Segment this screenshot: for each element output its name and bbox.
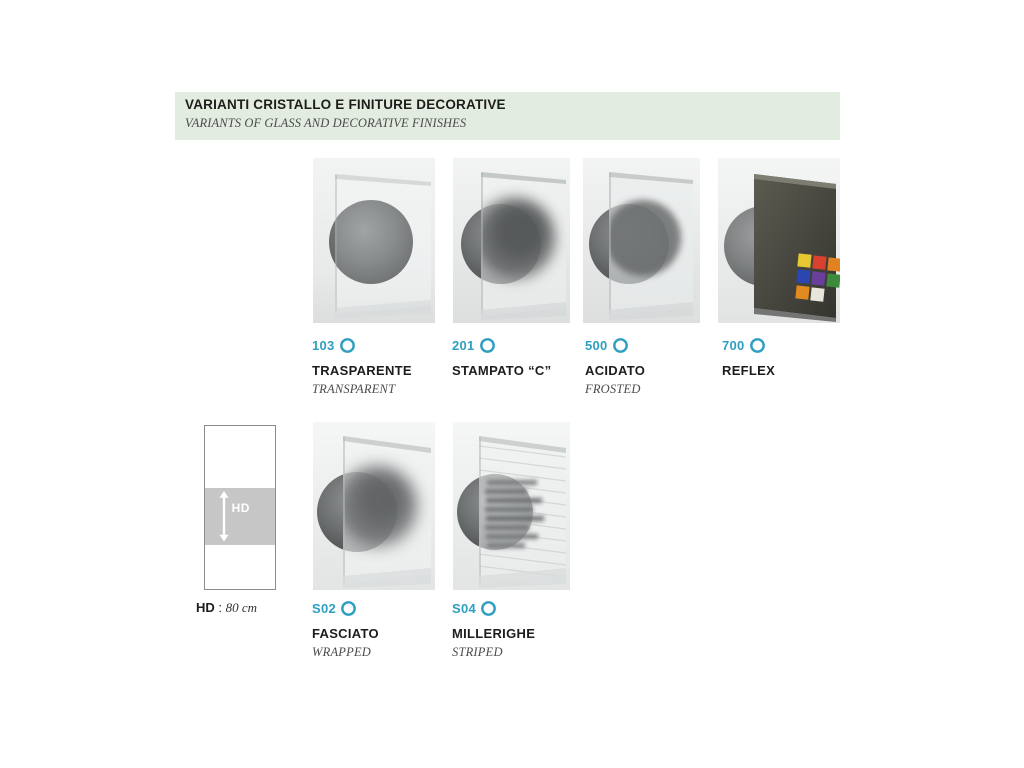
sample-image-millerighe (453, 422, 570, 590)
sample-label-stampato-c: 201 STAMPATO “C” (452, 336, 551, 382)
code-row: 500 (585, 336, 645, 354)
code-row: 201 (452, 336, 551, 354)
fasciato-photo (313, 422, 435, 590)
page-title: VARIANTI CRISTALLO E FINITURE DECORATIVE (185, 97, 506, 112)
sample-image-stampato-c (453, 158, 570, 323)
millerighe-photo (453, 422, 570, 590)
sample-name-it: FASCIATO (312, 626, 379, 641)
hd-caption: HD : 80 cm (196, 600, 257, 616)
sample-name-it: ACIDATO (585, 363, 645, 378)
hd-dimension-arrow (218, 491, 230, 542)
hd-band (205, 488, 275, 545)
code-row: 700 (722, 336, 775, 354)
sample-name-en: WRAPPED (312, 645, 379, 660)
sample-name-it: REFLEX (722, 363, 775, 378)
hd-caption-value: 80 cm (226, 600, 257, 615)
glass-swatch-icon (481, 601, 496, 616)
sample-image-reflex (718, 158, 840, 323)
glass-swatch-icon (750, 338, 765, 353)
section-header-band: VARIANTI CRISTALLO E FINITURE DECORATIVE… (175, 92, 840, 140)
sample-name-it: STAMPATO “C” (452, 363, 551, 378)
code-row: S02 (312, 599, 379, 617)
hd-caption-key: HD (196, 600, 215, 615)
sample-name-it: MILLERIGHE (452, 626, 535, 641)
page-subtitle: VARIANTS OF GLASS AND DECORATIVE FINISHE… (185, 116, 466, 131)
stampato-c-photo (453, 158, 570, 323)
sample-code: S04 (452, 601, 476, 616)
glass-swatch-icon (480, 338, 495, 353)
glass-swatch-icon (341, 601, 356, 616)
sample-label-millerighe: S04 MILLERIGHE STRIPED (452, 599, 535, 660)
sample-name-en: STRIPED (452, 645, 535, 660)
glass-swatch-icon (613, 338, 628, 353)
sample-name-en: FROSTED (585, 382, 645, 397)
hd-band-label: HD (232, 501, 250, 515)
sample-code: S02 (312, 601, 336, 616)
sample-code: 700 (722, 338, 745, 353)
glass-swatch-icon (340, 338, 355, 353)
code-row: S04 (452, 599, 535, 617)
sample-label-acidato: 500 ACIDATO FROSTED (585, 336, 645, 397)
sample-name-en: TRANSPARENT (312, 382, 412, 397)
trasparente-photo (313, 158, 435, 323)
sample-code: 500 (585, 338, 608, 353)
acidato-photo (583, 158, 700, 323)
sample-image-acidato (583, 158, 700, 323)
hd-caption-separator: : (215, 600, 226, 615)
sample-code: 201 (452, 338, 475, 353)
sample-label-fasciato: S02 FASCIATO WRAPPED (312, 599, 379, 660)
sample-name-it: TRASPARENTE (312, 363, 412, 378)
sample-label-trasparente: 103 TRASPARENTE TRANSPARENT (312, 336, 412, 397)
sample-image-fasciato (313, 422, 435, 590)
sample-image-trasparente (313, 158, 435, 323)
sample-code: 103 (312, 338, 335, 353)
reflex-photo (718, 158, 840, 323)
code-row: 103 (312, 336, 412, 354)
sample-label-reflex: 700 REFLEX (722, 336, 775, 382)
hd-diagram: HD (204, 425, 276, 590)
